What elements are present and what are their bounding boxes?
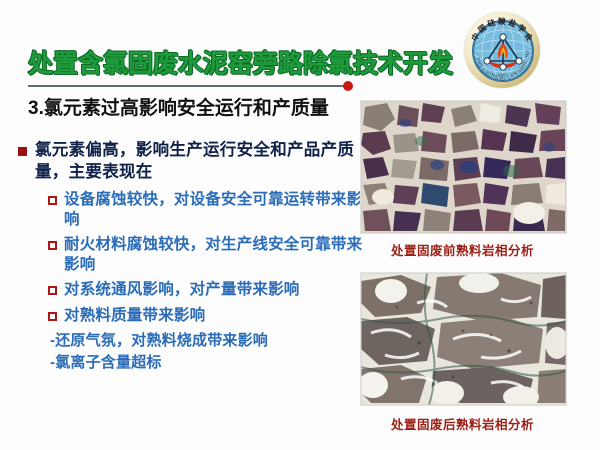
micrograph-after-graphic [361, 273, 566, 405]
title-divider [28, 85, 346, 87]
svg-text:中国硅酸盐学会: 中国硅酸盐学会 [469, 16, 536, 44]
clinker-petrography-after-image [360, 272, 567, 406]
svg-text:1945: 1945 [497, 72, 507, 77]
bullet-level2-label: 耐火材料腐蚀较快，对生产线安全可靠带来影响 [64, 235, 363, 275]
bullet-level2-4: 对熟料质量带来影响 [48, 306, 363, 326]
micrograph-before-graphic [361, 101, 566, 233]
bullet-level2-label: 对系统通风影响，对产量带来影响 [64, 280, 300, 300]
divider-dot-icon [343, 81, 353, 91]
bullet-level2-1: 设备腐蚀较快，对设备安全可靠运转带来影响 [48, 190, 363, 230]
slide-title: 处置含氯固废水泥窑旁路除氯技术开发 [28, 44, 453, 80]
bullet-level2-3: 对系统通风影响，对产量带来影响 [48, 280, 363, 300]
bullet-level1: 氯元素偏高，影响生产运行安全和产品产质量，主要表现在 [18, 140, 363, 184]
figure-caption-after: 处置固废后熟料岩相分析 [360, 414, 565, 433]
bullet-level1-label: 氯元素偏高，影响生产运行安全和产品产质量，主要表现在 [35, 140, 363, 184]
bullet-level2-label: 设备腐蚀较快，对设备安全可靠运转带来影响 [64, 190, 363, 230]
chinese-ceramic-society-logo: 中国硅酸盐学会 THE CHINESE CERAMIC SOCIETY 1945 [464, 12, 540, 88]
dash-line-1: -还原气氛，对熟料烧成带来影响 [50, 331, 363, 351]
hollow-square-bullet-icon [48, 312, 57, 321]
hollow-square-bullet-icon [48, 241, 57, 250]
dash-line-2: -氯离子含量超标 [50, 353, 363, 373]
presentation-slide: 中国硅酸盐学会 THE CHINESE CERAMIC SOCIETY 1945… [0, 0, 600, 450]
slide-subtitle: 3.氯元素过高影响安全运行和产质量 [28, 93, 329, 120]
svg-text:THE CHINESE CERAMIC SOCIETY: THE CHINESE CERAMIC SOCIETY [464, 12, 531, 81]
bullet-level2-2: 耐火材料腐蚀较快，对生产线安全可靠带来影响 [48, 235, 363, 275]
bullet-level2-label: 对熟料质量带来影响 [64, 306, 205, 326]
figure-caption-before: 处置固废前熟料岩相分析 [360, 240, 565, 259]
hollow-square-bullet-icon [48, 286, 57, 295]
logo-ring-text: 中国硅酸盐学会 THE CHINESE CERAMIC SOCIETY 1945 [464, 12, 540, 88]
slide-body: 氯元素偏高，影响生产运行安全和产品产质量，主要表现在 设备腐蚀较快，对设备安全可… [18, 140, 363, 376]
filled-square-bullet-icon [18, 147, 27, 156]
hollow-square-bullet-icon [48, 196, 57, 205]
clinker-petrography-before-image [360, 100, 567, 234]
